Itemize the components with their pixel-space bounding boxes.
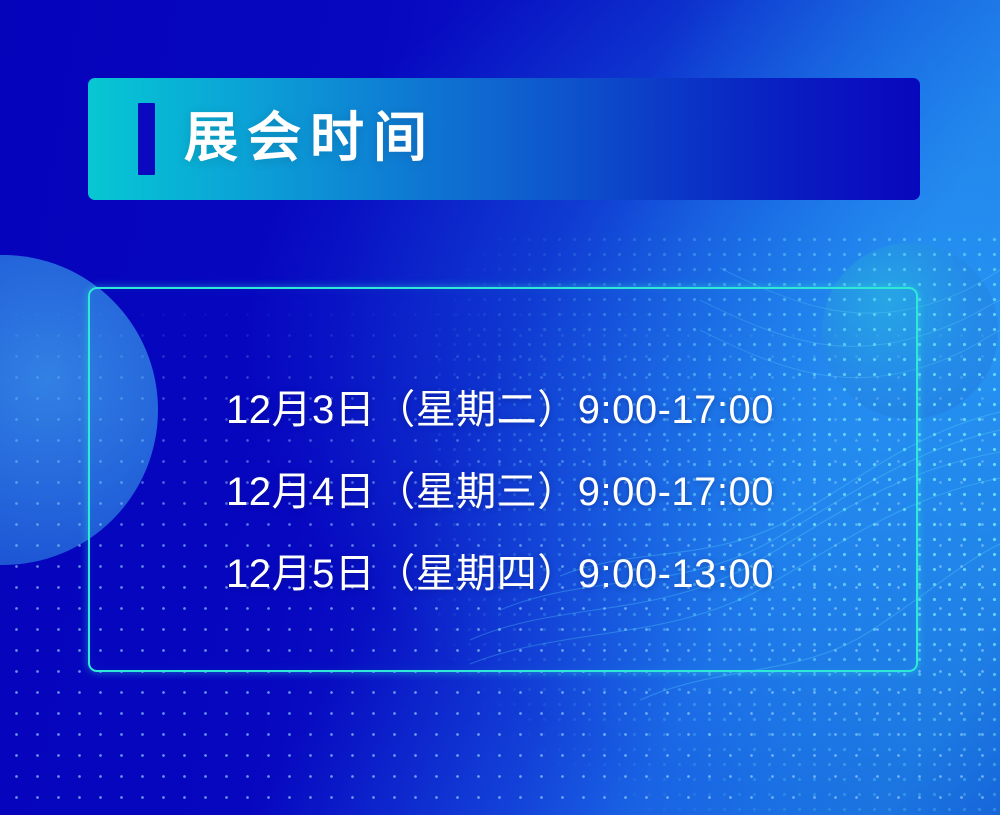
schedule-line: 12月3日（星期二）9:00-17:00 — [226, 369, 786, 451]
exhibition-time-poster: 展会时间 12月3日（星期二）9:00-17:00 12月4日（星期三）9:00… — [0, 0, 1000, 815]
schedule-line: 12月4日（星期三）9:00-17:00 — [226, 451, 786, 533]
schedule-line: 12月5日（星期四）9:00-13:00 — [226, 533, 786, 615]
title-accent-bar — [138, 103, 155, 175]
schedule-list: 12月3日（星期二）9:00-17:00 12月4日（星期三）9:00-17:0… — [226, 369, 786, 615]
page-title: 展会时间 — [184, 111, 436, 165]
title-banner: 展会时间 — [88, 78, 920, 200]
